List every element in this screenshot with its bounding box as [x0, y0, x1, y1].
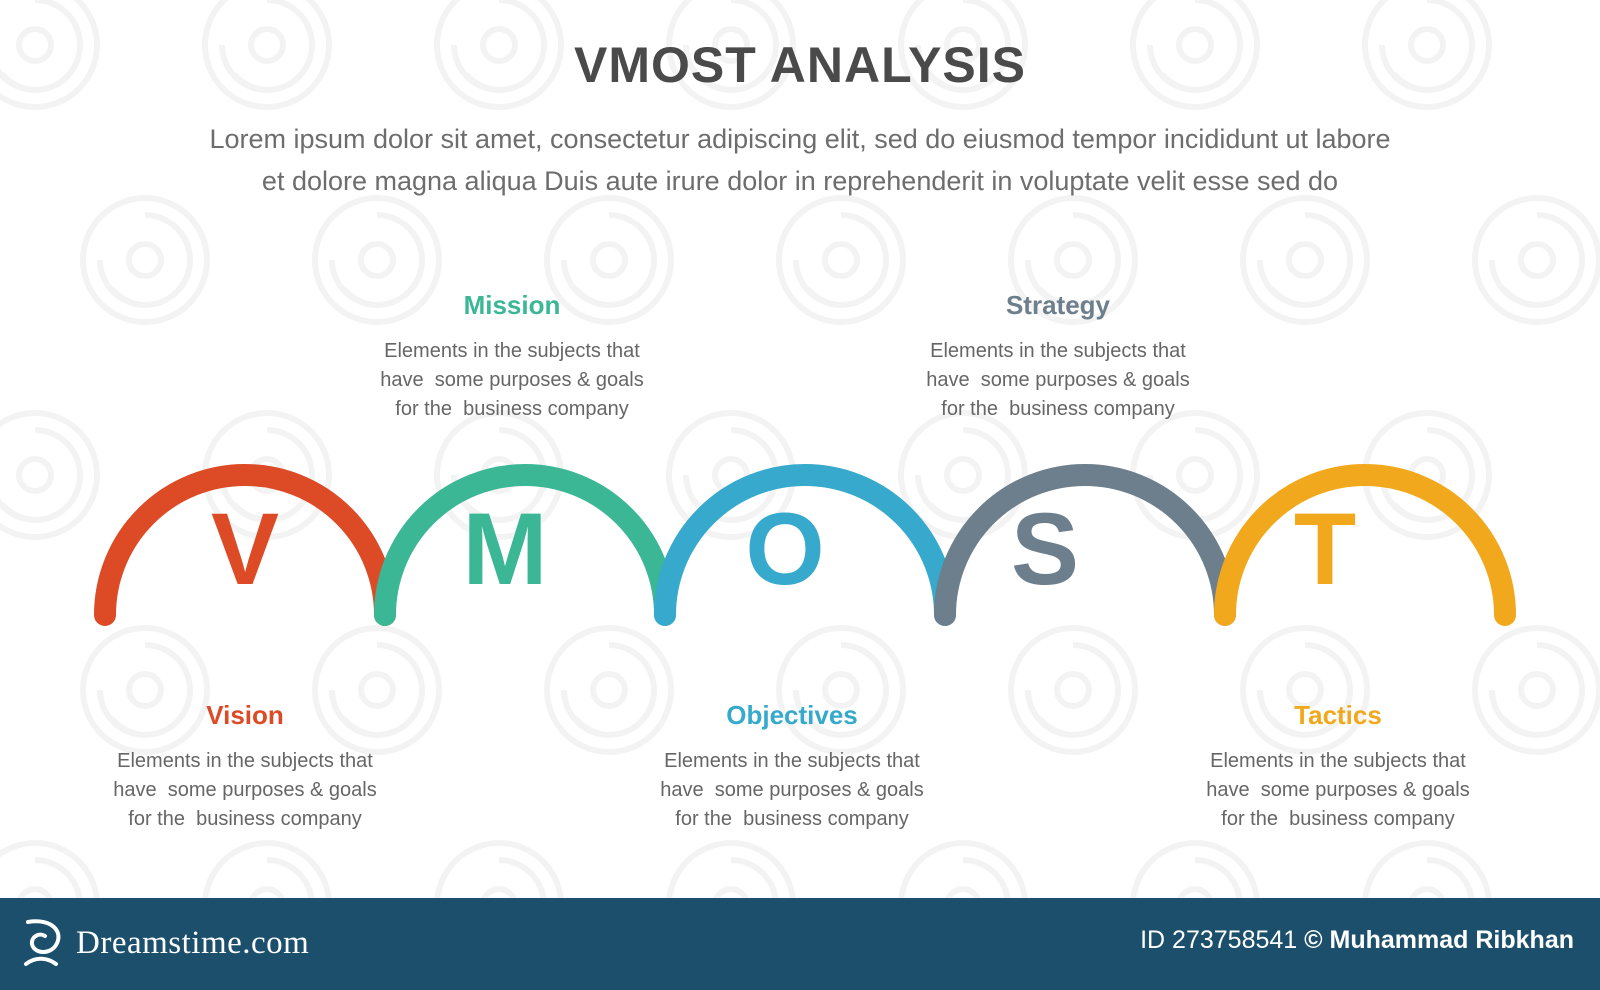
desc-line-3: for the business company — [898, 395, 1218, 424]
desc-line-2: have some purposes & goals — [1178, 776, 1498, 805]
desc-line-1: Elements in the subjects that — [352, 337, 672, 366]
block-tactics-desc: Elements in the subjects that have some … — [1178, 747, 1498, 834]
desc-line-3: for the business company — [352, 395, 672, 424]
watermark-tile — [1462, 185, 1600, 335]
desc-line-3: for the business company — [1178, 805, 1498, 834]
watermark-tile — [70, 185, 220, 335]
desc-line-1: Elements in the subjects that — [1178, 747, 1498, 776]
desc-line-2: have some purposes & goals — [632, 776, 952, 805]
block-strategy-desc: Elements in the subjects that have some … — [898, 337, 1218, 424]
vmost-letter-v: V — [165, 498, 325, 600]
image-credit: ID 273758541 © Muhammad Ribkhan — [1140, 926, 1574, 955]
desc-line-1: Elements in the subjects that — [898, 337, 1218, 366]
watermark-tile — [766, 185, 916, 335]
desc-line-1: Elements in the subjects that — [85, 747, 405, 776]
infographic-canvas: VMOST ANALYSIS Lorem ipsum dolor sit ame… — [0, 0, 1600, 990]
block-objectives-heading: Objectives — [632, 700, 952, 731]
block-objectives: Objectives Elements in the subjects that… — [632, 700, 952, 834]
block-tactics-heading: Tactics — [1178, 700, 1498, 731]
desc-line-3: for the business company — [632, 805, 952, 834]
vmost-letter-o: O — [705, 498, 865, 600]
desc-line-2: have some purposes & goals — [898, 366, 1218, 395]
block-mission-desc: Elements in the subjects that have some … — [352, 337, 672, 424]
subtitle-line-2: et dolore magna aliqua Duis aute irure d… — [85, 160, 1515, 202]
vmost-letter-s: S — [965, 498, 1125, 600]
block-vision-heading: Vision — [85, 700, 405, 731]
vmost-letters: VMOST — [0, 420, 1600, 650]
dreamstime-logo-icon — [22, 918, 66, 968]
subtitle-line-1: Lorem ipsum dolor sit amet, consectetur … — [85, 118, 1515, 160]
footer-bar: Dreamstime.com ID 273758541 © Muhammad R… — [0, 898, 1600, 990]
block-objectives-desc: Elements in the subjects that have some … — [632, 747, 952, 834]
image-author: © Muhammad Ribkhan — [1304, 926, 1574, 954]
image-id: ID 273758541 — [1140, 926, 1297, 954]
page-title: VMOST ANALYSIS — [0, 36, 1600, 94]
watermark-tile — [1230, 185, 1380, 335]
dreamstime-brand: Dreamstime.com — [22, 918, 309, 968]
dreamstime-wordmark: Dreamstime.com — [76, 925, 309, 962]
desc-line-2: have some purposes & goals — [85, 776, 405, 805]
desc-line-2: have some purposes & goals — [352, 366, 672, 395]
block-vision: Vision Elements in the subjects that hav… — [85, 700, 405, 834]
block-tactics: Tactics Elements in the subjects that ha… — [1178, 700, 1498, 834]
vmost-letter-t: T — [1245, 498, 1405, 600]
desc-line-3: for the business company — [85, 805, 405, 834]
block-strategy: Strategy Elements in the subjects that h… — [898, 290, 1218, 424]
page-subtitle: Lorem ipsum dolor sit amet, consectetur … — [85, 118, 1515, 202]
vmost-arch-diagram: VMOST — [0, 420, 1600, 650]
vmost-letter-m: M — [425, 498, 585, 600]
block-vision-desc: Elements in the subjects that have some … — [85, 747, 405, 834]
desc-line-1: Elements in the subjects that — [632, 747, 952, 776]
block-mission-heading: Mission — [352, 290, 672, 321]
block-mission: Mission Elements in the subjects that ha… — [352, 290, 672, 424]
block-strategy-heading: Strategy — [898, 290, 1218, 321]
